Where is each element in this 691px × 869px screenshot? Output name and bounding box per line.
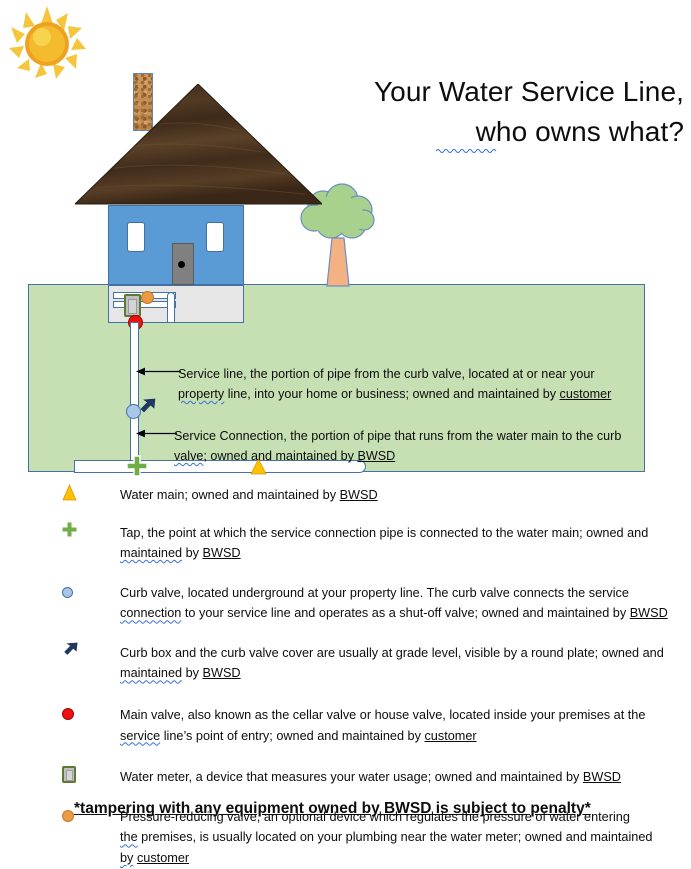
curb-box-arrow-icon — [138, 398, 157, 417]
arrow-icon — [62, 642, 79, 659]
door-knob-icon — [178, 261, 185, 268]
callout-line-2-b: line, into your home or business; owned … — [224, 387, 559, 401]
legend-line-2-a: the — [120, 830, 138, 844]
blue-circle-icon — [62, 587, 73, 598]
callout-line-2-c: BWSD — [357, 449, 395, 463]
page-title: Your Water Service Line, who owns what? — [332, 72, 684, 152]
orange-circle-icon — [62, 810, 74, 822]
spellcheck-squiggle-icon — [436, 148, 498, 153]
basement-riser-pipe — [167, 292, 175, 323]
callout-line-1: Service Connection, the portion of pipe … — [174, 429, 621, 443]
legend-item-curb-box: Curb box and the curb valve cover are us… — [62, 642, 682, 684]
legend-line-1-a: Curb valve, located underground at your … — [120, 586, 629, 600]
legend-line-1-a: Water meter, a device that measures your… — [120, 770, 583, 784]
legend-icon-cell — [62, 704, 120, 720]
service-line-pipe — [130, 322, 139, 466]
legend-text: Water meter, a device that measures your… — [120, 766, 682, 788]
legend-item-water-meter: Water meter, a device that measures your… — [62, 766, 682, 788]
callout-line-2-a: valve — [174, 449, 203, 463]
legend-icon-cell — [62, 642, 120, 659]
legend-icon-cell — [62, 522, 120, 537]
legend-line-2-b: line’s point of entry; owned and maintai… — [160, 729, 424, 743]
legend-line-3-a: by — [120, 851, 133, 865]
legend-item-water-main: Water main; owned and maintained by BWSD — [62, 484, 682, 506]
pressure-reducing-valve-icon — [141, 291, 154, 304]
legend-icon-cell — [62, 582, 120, 598]
red-circle-icon — [62, 708, 74, 720]
green-cross-icon — [62, 522, 77, 537]
callout-arrow-service-connection — [136, 428, 178, 439]
legend-icon-cell — [62, 766, 120, 783]
legend-line-1-a: Tap, the point at which the service conn… — [120, 526, 648, 540]
legend-line-2-b: by — [182, 666, 202, 680]
roof-icon — [75, 84, 322, 205]
legend-line-3-c: customer — [137, 851, 189, 865]
legend-line-1-b: BWSD — [340, 488, 378, 502]
callout-text-service-connection: Service Connection, the portion of pipe … — [174, 427, 654, 467]
legend-item-tap: Tap, the point at which the service conn… — [62, 522, 682, 564]
title-line-1: Your Water Service Line, — [374, 76, 684, 107]
legend-text: Curb valve, located underground at your … — [120, 582, 682, 624]
legend-line-1-b: BWSD — [583, 770, 621, 784]
legend-line-2-a: connection — [120, 606, 181, 620]
footer-warning: *tampering with any equipment owned by B… — [74, 800, 634, 818]
legend-line-2-c: BWSD — [203, 546, 241, 560]
callout-line-2-b: ; owned and maintained by — [203, 449, 357, 463]
legend-line-2-b: premises, is usually located on your plu… — [138, 830, 653, 844]
legend-line-2-c: BWSD — [203, 666, 241, 680]
legend-line-2-b: by — [182, 546, 202, 560]
tap-green-cross-icon — [126, 455, 148, 477]
window-right — [206, 222, 224, 252]
callout-arrow-service-line — [136, 366, 182, 377]
legend-text: Water main; owned and maintained by BWSD — [120, 484, 682, 506]
meter-box-icon — [62, 766, 76, 783]
callout-line-1: Service line, the portion of pipe from t… — [178, 367, 595, 381]
water-meter-icon — [124, 294, 141, 317]
poster-canvas: Your Water Service Line, who owns what? — [0, 0, 691, 835]
sun-icon — [6, 4, 88, 82]
legend-line-2-a: service — [120, 729, 160, 743]
legend-item-main-valve: Main valve, also known as the cellar val… — [62, 704, 682, 746]
legend-icon-cell — [62, 484, 120, 501]
window-left — [127, 222, 145, 252]
callout-line-2-a: property — [178, 387, 224, 401]
legend-line-2-b: to your service line and operates as a s… — [181, 606, 629, 620]
legend-line-1-a: Curb box and the curb valve cover are us… — [120, 646, 664, 660]
legend-line-1-a: Main valve, also known as the cellar val… — [120, 708, 645, 722]
legend-text: Curb box and the curb valve cover are us… — [120, 642, 682, 684]
legend-item-curb-valve: Curb valve, located underground at your … — [62, 582, 682, 624]
legend-text: Tap, the point at which the service conn… — [120, 522, 682, 564]
legend-line-2-a: maintained — [120, 666, 182, 680]
callout-text-service-line: Service line, the portion of pipe from t… — [178, 365, 648, 405]
legend-line-2-c: customer — [424, 729, 476, 743]
triangle-marker-icon — [62, 484, 77, 501]
legend-line-2-c: BWSD — [630, 606, 668, 620]
title-line-2: who owns what? — [332, 112, 684, 152]
callout-line-2-c: customer — [560, 387, 612, 401]
legend-line-2-a: maintained — [120, 546, 182, 560]
legend-line-1-a: Water main; owned and maintained by — [120, 488, 340, 502]
legend-text: Main valve, also known as the cellar val… — [120, 704, 682, 746]
